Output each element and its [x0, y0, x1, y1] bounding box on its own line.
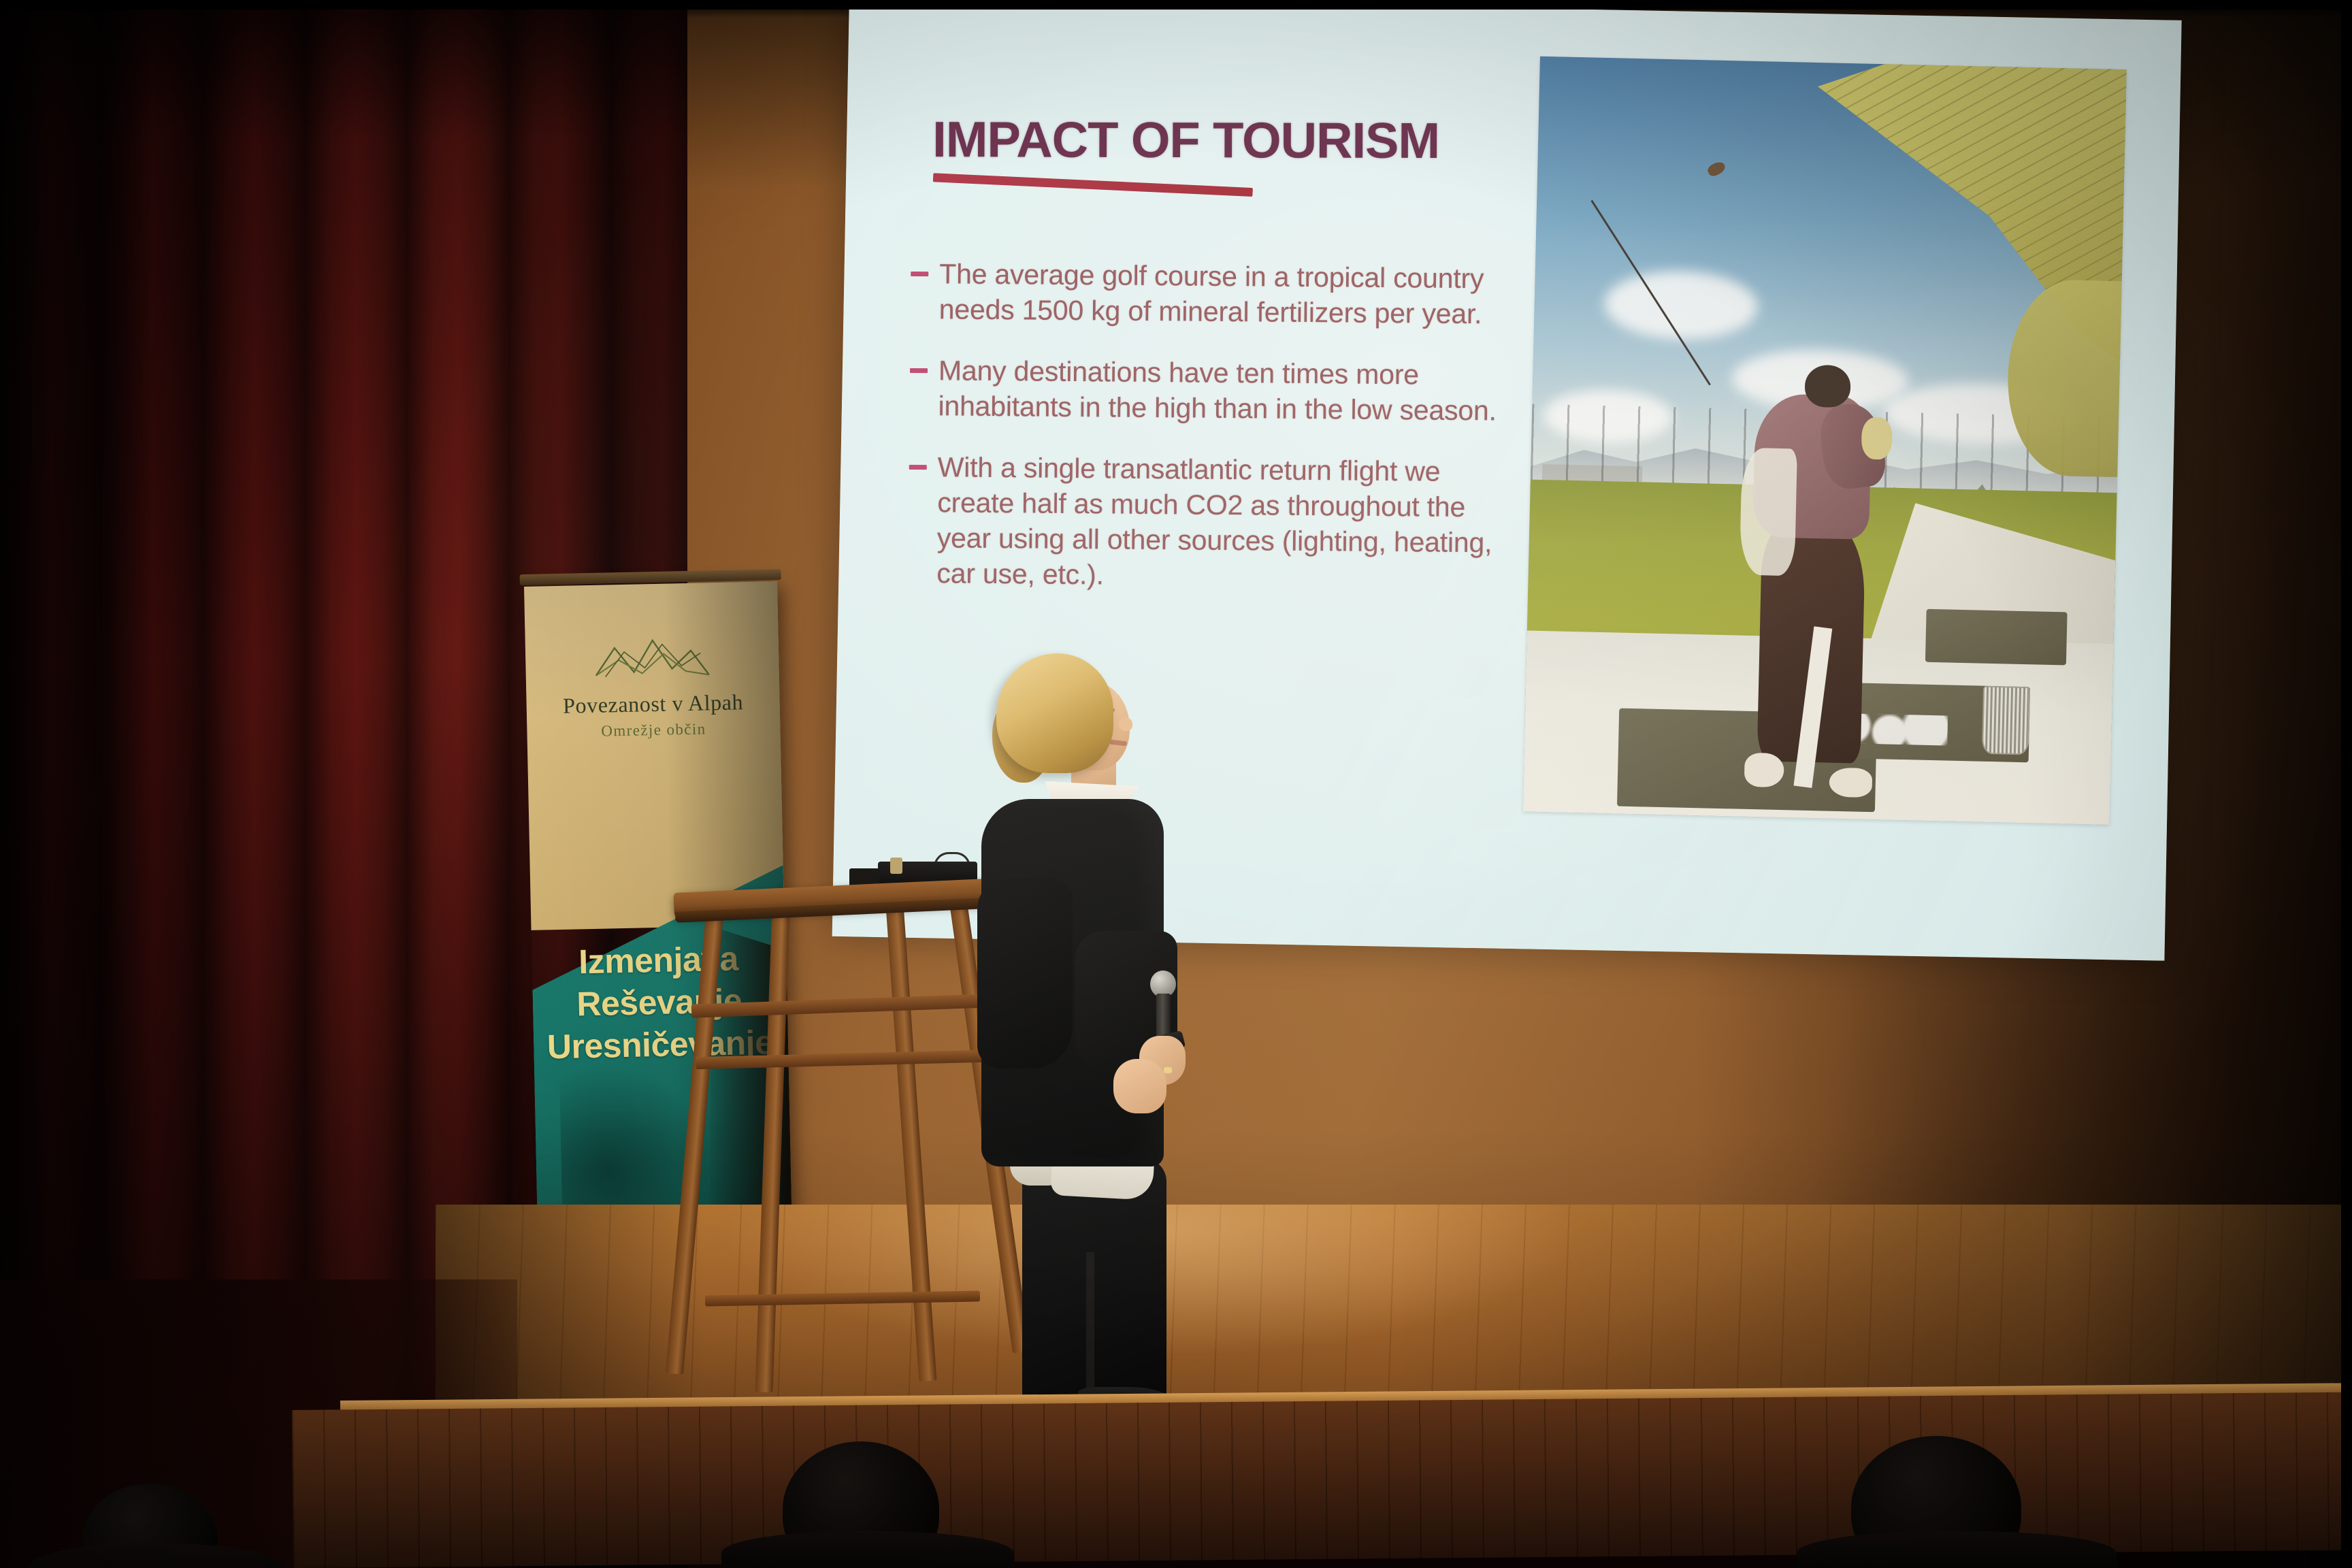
slide-photo-golf-driving-range	[1523, 56, 2127, 825]
slide-title-underline	[933, 173, 1253, 197]
bullet-text: The average golf course in a tropical co…	[939, 256, 1510, 331]
photo-golfer	[1735, 363, 1897, 790]
lectern-device-knob	[890, 857, 902, 874]
lectern-leg	[755, 905, 790, 1392]
bullet-dash-icon	[910, 368, 928, 373]
lectern-cross-rail	[696, 1050, 984, 1069]
lectern-cross-rail	[691, 994, 991, 1017]
golfer-jacket-highlight	[1739, 448, 1797, 576]
golfer-shoe	[1829, 767, 1873, 798]
frame-top-border	[0, 0, 2352, 10]
auditorium-scene: IMPACT OF TOURISM The average golf cours…	[0, 0, 2352, 1568]
golfer-glove	[1861, 416, 1893, 459]
presenter-hair	[996, 653, 1113, 773]
photo-tee-mat	[1925, 609, 2068, 665]
golfer-head	[1804, 365, 1851, 408]
bullet-item-2: Many destinations have ten times more in…	[909, 353, 1509, 429]
audience-shoulders-silhouette	[721, 1531, 1014, 1568]
bullet-item-1: The average golf course in a tropical co…	[911, 256, 1510, 332]
bullet-dash-icon	[909, 465, 927, 470]
audience-shoulders-silhouette	[1797, 1531, 2117, 1568]
lectern-leg	[886, 905, 937, 1382]
presenter-ring	[1164, 1067, 1172, 1073]
presenter-trouser-crease	[1086, 1252, 1094, 1409]
slide-bullet-list: The average golf course in a tropical co…	[908, 256, 1510, 622]
presenter-sleeve	[977, 878, 1073, 1068]
frame-right-border	[2341, 0, 2352, 1568]
slide-title: IMPACT OF TOURISM	[932, 110, 1439, 169]
presenter-nose	[1119, 717, 1132, 731]
photo-ball-basket	[1982, 686, 2030, 755]
lectern-lower-rail	[705, 1290, 980, 1306]
bullet-dash-icon	[911, 272, 928, 276]
bullet-text: Many destinations have ten times more in…	[938, 353, 1509, 428]
bullet-text: With a single transatlantic return fligh…	[936, 450, 1508, 597]
presenter-hand	[1113, 1059, 1166, 1113]
presenter-trousers	[1022, 1158, 1166, 1422]
presenter	[951, 653, 1237, 1402]
golfer-shoe	[1744, 753, 1784, 787]
bullet-item-3: With a single transatlantic return fligh…	[908, 449, 1508, 596]
